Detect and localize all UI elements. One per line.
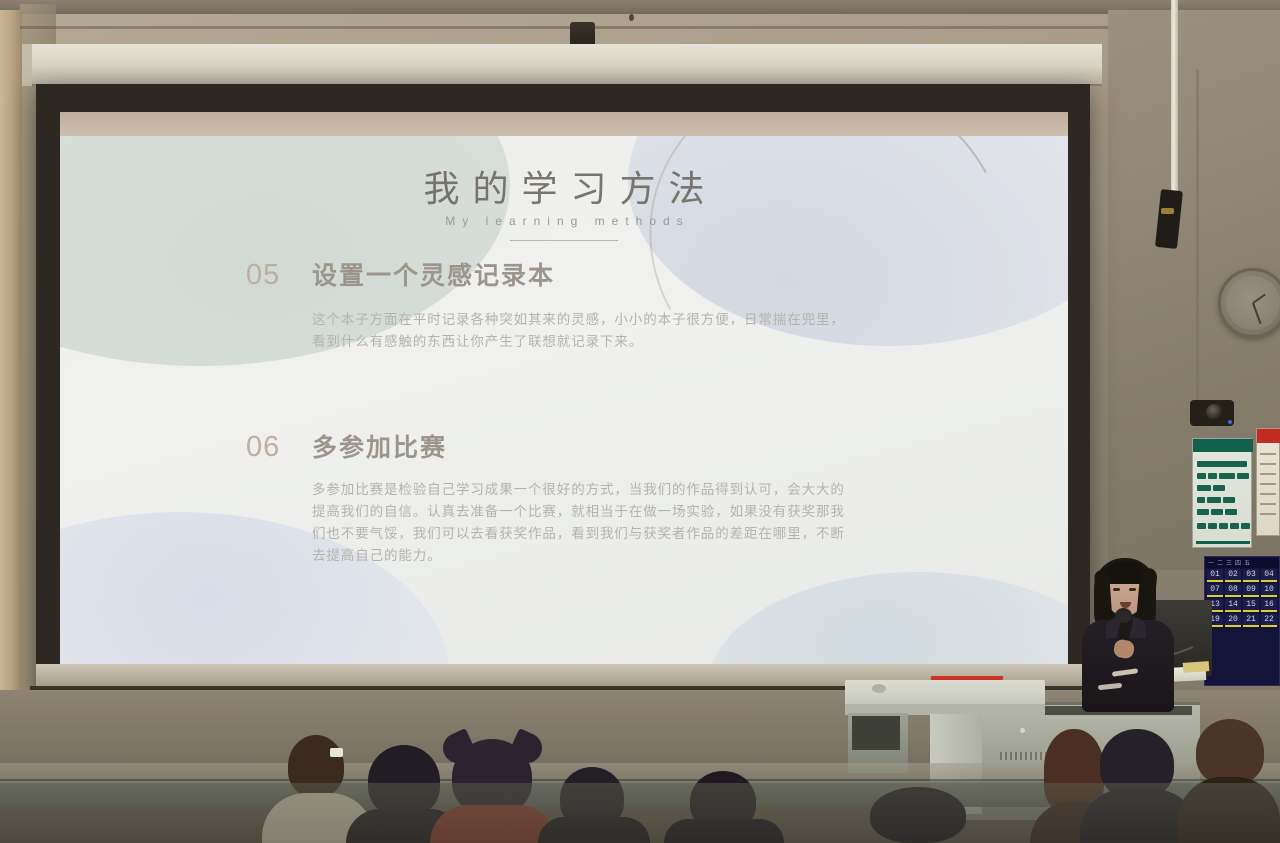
- calendar-day: 09: [1243, 584, 1259, 597]
- wall-calendar: 一 二 三 四 五 01 02 03 04 07 08 09 10 13 14 …: [1204, 556, 1280, 686]
- slide-subtitle: My learning methods: [60, 214, 1068, 228]
- calendar-weekday: 四: [1235, 558, 1241, 567]
- calendar-weekday: 五: [1244, 558, 1250, 567]
- clock-hour-hand: [1252, 294, 1265, 304]
- screen-top-band: [60, 112, 1068, 138]
- section-05-number: 05: [246, 259, 312, 292]
- slide-title: 我的学习方法: [60, 160, 1068, 212]
- calendar-day: 20: [1225, 614, 1241, 627]
- flowchart-poster-footer: [1196, 541, 1250, 544]
- projected-slide[interactable]: 我的学习方法 My learning methods 05 设置一个灵感记录本 …: [60, 136, 1068, 672]
- presenter: [1070, 558, 1190, 708]
- calendar-day: 10: [1261, 584, 1277, 597]
- calendar-day: 22: [1261, 614, 1277, 627]
- screen-valance: [22, 44, 1102, 86]
- podium-knob: [872, 684, 886, 693]
- title-underline: [510, 240, 618, 241]
- calendar-day: 08: [1225, 584, 1241, 597]
- calendar-day: 21: [1243, 614, 1259, 627]
- wall-marking: [629, 14, 634, 21]
- camera-lens-icon: [1206, 404, 1223, 421]
- podium-shelf: [852, 716, 900, 750]
- section-06-header: 06 多参加比赛: [60, 428, 1068, 464]
- clock-face: [1226, 276, 1280, 330]
- control-desk-screw: [1020, 728, 1025, 733]
- flowchart-poster: [1192, 438, 1252, 548]
- calendar-day: 14: [1225, 599, 1241, 612]
- calendar-day: 16: [1261, 599, 1277, 612]
- presenter-eye-right: [1129, 588, 1136, 591]
- calendar-day: 02: [1225, 569, 1241, 582]
- red-header-poster: [1256, 428, 1280, 536]
- left-pillar: [0, 10, 22, 800]
- section-06-body: 多参加比赛是检验自己学习成果一个很好的方式，当我们的作品得到认可，会大大的提高我…: [60, 479, 1068, 567]
- slide-section-06: 06 多参加比赛 多参加比赛是检验自己学习成果一个很好的方式，当我们的作品得到认…: [60, 428, 1068, 567]
- calendar-day: 15: [1243, 599, 1259, 612]
- calendar-weekday: 一: [1208, 558, 1214, 567]
- section-05-heading: 设置一个灵感记录本: [312, 256, 555, 292]
- hair-clip: [330, 748, 343, 757]
- section-06-number: 06: [246, 431, 312, 464]
- wall-seam: [20, 26, 1110, 29]
- presenter-eye-left: [1113, 588, 1120, 591]
- calendar-row: 01 02 03 04: [1205, 568, 1279, 583]
- front-bench: [0, 783, 1280, 843]
- section-05-body: 这个本子方面在平时记录各种突如其来的灵感，小小的本子很方便，日常揣在兜里，看到什…: [60, 309, 1068, 353]
- flowchart-poster-header: [1193, 439, 1253, 452]
- calendar-day: 07: [1207, 584, 1223, 597]
- calendar-row: 19 20 21 22: [1205, 613, 1279, 628]
- clock-minute-hand: [1252, 303, 1261, 324]
- calendar-header: 一 二 三 四 五: [1205, 557, 1279, 568]
- right-wall-edge: [1196, 70, 1199, 400]
- classroom-scene: 我的学习方法 My learning methods 05 设置一个灵感记录本 …: [0, 0, 1280, 843]
- calendar-weekday: 三: [1226, 558, 1232, 567]
- calendar-day: 04: [1261, 569, 1277, 582]
- slide-section-05: 05 设置一个灵感记录本 这个本子方面在平时记录各种突如其来的灵感，小小的本子很…: [60, 256, 1068, 353]
- section-05-header: 05 设置一个灵感记录本: [60, 256, 1068, 292]
- calendar-row: 13 14 15 16: [1205, 598, 1279, 613]
- pole-clamp-ring: [1161, 208, 1174, 214]
- calendar-day: 01: [1207, 569, 1223, 582]
- calendar-weekday: 二: [1217, 558, 1223, 567]
- red-poster-header: [1257, 429, 1280, 443]
- microphone-head: [1115, 608, 1132, 623]
- calendar-day: 03: [1243, 569, 1259, 582]
- calendar-row: 07 08 09 10: [1205, 583, 1279, 598]
- section-06-heading: 多参加比赛: [312, 428, 447, 464]
- audience-head: [1196, 719, 1264, 785]
- ceiling-pole: [1171, 0, 1178, 196]
- camera-led-indicator: [1228, 420, 1232, 424]
- screen-valance-end: [22, 44, 32, 86]
- wall-clock: [1218, 268, 1280, 338]
